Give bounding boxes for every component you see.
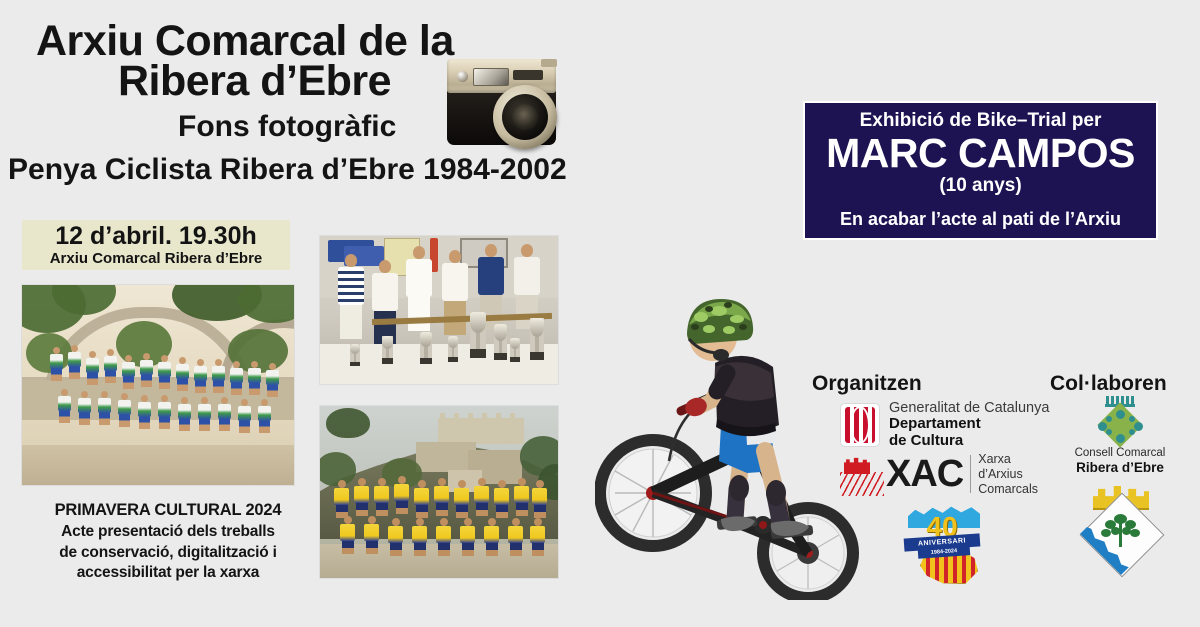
xac-acronym: XAC <box>886 455 963 493</box>
crest-tree-leaf <box>1122 527 1131 535</box>
crest-tree-leaf <box>1130 529 1140 537</box>
page-title-line2: Ribera d’Ebre <box>118 60 391 103</box>
event-date-box: 12 d’abril. 19.30h Arxiu Comarcal Ribera… <box>22 220 290 270</box>
caption-title: PRIMAVERA CULTURAL 2024 <box>18 500 318 521</box>
banner-location-note: En acabar l’acte al pati de l’Arxiu <box>840 210 1121 230</box>
subtitle-fons-fotografic: Fons fotogràfic <box>178 112 396 142</box>
camera-viewfinder <box>473 68 509 86</box>
logo-40-aniversari: 40 ANIVERSARI 1984-2024 <box>902 500 990 582</box>
caption-line1: Acte presentació dels treballs <box>18 522 318 543</box>
caption-line3: accessibilitat per la xarxa <box>18 563 318 584</box>
xac-line2: d’Arxius <box>978 467 1038 482</box>
gencat-line3: de Cultura <box>889 433 1049 450</box>
event-caption: PRIMAVERA CULTURAL 2024 Acte presentació… <box>18 500 318 584</box>
logo-xarxa-arxius-comarcals: XAC Xarxa d’Arxius Comarcals <box>840 452 1038 496</box>
banner-exhibition-label: Exhibició de Bike–Trial per <box>860 111 1102 132</box>
photo-castle-team <box>320 406 558 578</box>
subtitle-penya-ciclista: Penya Ciclista Ribera d’Ebre 1984-2002 <box>8 155 567 185</box>
camera-rangefinder-window <box>457 71 468 82</box>
consell-emblem-icon <box>1092 396 1148 444</box>
consell-line1: Consell Comarcal <box>1068 447 1172 460</box>
logo-consell-comarcal: Consell Comarcal Ribera d’Ebre <box>1068 396 1172 472</box>
xac-line1: Xarxa <box>978 452 1038 467</box>
camera-name-plate <box>513 70 543 80</box>
consell-line2: Ribera d’Ebre <box>1068 460 1172 476</box>
collaborators-heading: Col·laboren <box>1050 372 1167 396</box>
poster-canvas: Arxiu Comarcal de la Ribera d’Ebre Fons … <box>0 0 1200 627</box>
camera-shutter-button <box>541 59 557 67</box>
organizers-heading: Organitzen <box>812 372 922 396</box>
banner-performer-age: (10 anys) <box>939 176 1021 197</box>
xac-castle-icon <box>840 452 884 496</box>
bike-trial-banner: Exhibició de Bike–Trial per MARC CAMPOS … <box>803 101 1158 240</box>
crest-tree-leaf <box>1101 529 1111 537</box>
gencat-line1: Generalitat de Catalunya <box>889 400 1049 416</box>
crest-tree-leaf <box>1111 527 1120 535</box>
vintage-camera-icon <box>443 57 560 157</box>
xac-line3: Comarcals <box>978 482 1038 497</box>
gencat-line2: Departament <box>889 416 1049 433</box>
photo-cyclists-bridge <box>22 285 294 485</box>
caption-line2: de conservació, digitalització i <box>18 543 318 564</box>
event-date: 12 d’abril. 19.30h <box>55 223 257 249</box>
event-venue: Arxiu Comarcal Ribera d’Ebre <box>50 251 263 268</box>
town-coat-of-arms-icon <box>1078 486 1164 580</box>
generalitat-shield-icon <box>840 403 880 447</box>
camera-lens-glass <box>512 104 538 130</box>
banner-performer-name: MARC CAMPOS <box>826 133 1135 175</box>
logo-generalitat-de-catalunya: Generalitat de Catalunya Departament de … <box>840 400 1049 450</box>
xac-divider <box>970 455 971 493</box>
photo-trophies <box>320 236 558 384</box>
